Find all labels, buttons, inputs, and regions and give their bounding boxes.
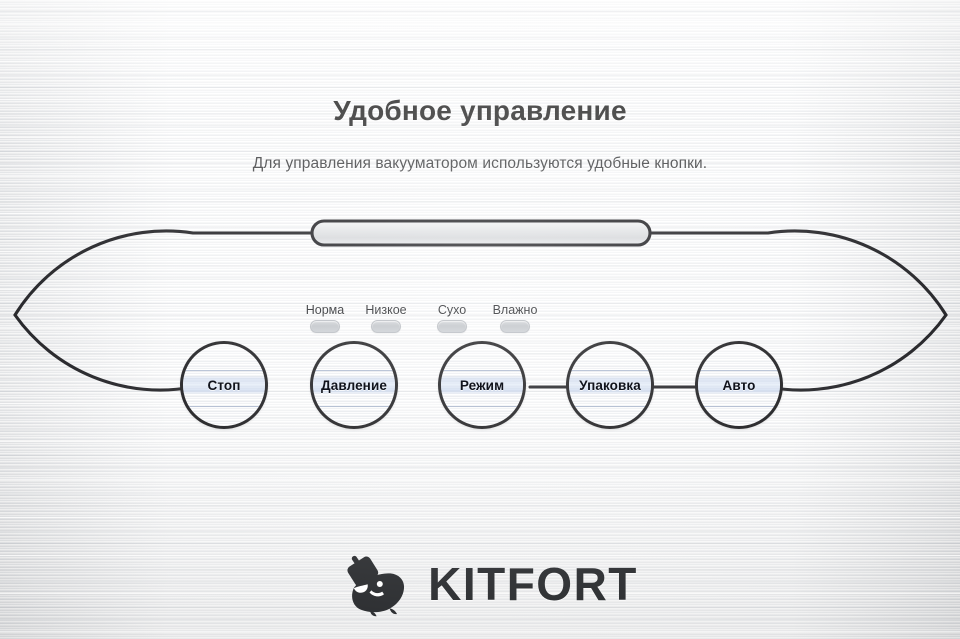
button-stop[interactable]: Стоп	[180, 341, 268, 429]
indicator-label-sukho: Сухо	[424, 303, 480, 317]
indicator-led-nizkoe	[371, 320, 401, 333]
button-hairline	[313, 406, 395, 407]
button-rezhim[interactable]: Режим	[438, 341, 526, 429]
indicator-led-vlazhno	[500, 320, 530, 333]
button-hairline	[183, 406, 265, 407]
panel-handle	[312, 221, 650, 245]
button-avto[interactable]: Авто	[695, 341, 783, 429]
button-label: Давление	[321, 378, 387, 393]
button-hairline	[569, 406, 651, 407]
whale-plug-icon	[322, 551, 414, 617]
indicator-label-vlazhno: Влажно	[482, 303, 548, 317]
button-hairline	[698, 370, 780, 371]
page-subtitle: Для управления вакууматором используются…	[0, 155, 960, 173]
button-hairline	[441, 406, 523, 407]
product-feature-banner: Удобное управление Для управления вакуум…	[0, 0, 960, 639]
button-label: Упаковка	[579, 378, 641, 393]
button-hairline	[313, 370, 395, 371]
button-label: Авто	[723, 378, 756, 393]
button-davlenie[interactable]: Давление	[310, 341, 398, 429]
button-hairline	[441, 370, 523, 371]
indicator-label-norma: Норма	[295, 303, 355, 317]
button-upakovka[interactable]: Упаковка	[566, 341, 654, 429]
indicator-led-sukho	[437, 320, 467, 333]
indicator-label-nizkoe: Низкое	[353, 303, 419, 317]
button-hairline	[569, 370, 651, 371]
button-label: Режим	[460, 378, 504, 393]
brand-name: KITFORT	[428, 561, 638, 607]
button-hairline	[698, 406, 780, 407]
button-label: Стоп	[208, 378, 241, 393]
indicator-led-norma	[310, 320, 340, 333]
button-hairline	[183, 370, 265, 371]
brand-logo: KITFORT	[0, 548, 960, 620]
page-title: Удобное управление	[0, 95, 960, 127]
